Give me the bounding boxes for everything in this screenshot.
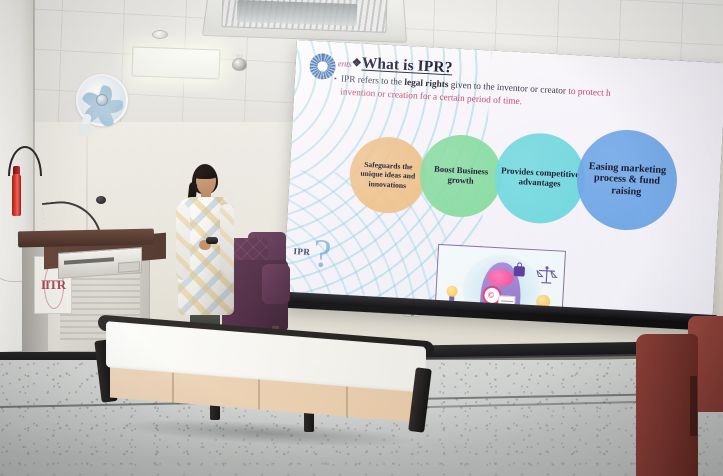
podium-control-panel[interactable] [118, 261, 140, 273]
presenter-arm-right [220, 204, 234, 276]
armchair-armrest [262, 264, 290, 304]
projection-screen-frame: ents ❖What is IPR? • IPR refers to the l… [283, 40, 723, 331]
scales-of-justice-icon [535, 265, 558, 286]
sofa-armrest [636, 334, 698, 476]
fire-extinguisher-icon [12, 174, 21, 216]
slide-title-text: What is IPR? [361, 55, 453, 77]
slide-watermark-badge: IPR [293, 246, 310, 257]
fan-hub [96, 94, 108, 106]
presenter [168, 164, 242, 340]
sofa-seam [690, 376, 697, 436]
presentation-slide: ents ❖What is IPR? • IPR refers to the l… [283, 40, 723, 321]
microphone-icon [96, 196, 106, 204]
presenter-arm-left [176, 204, 190, 280]
slide-watermark-question-mark: ? [312, 233, 332, 274]
ceiling-light-panel [132, 46, 221, 79]
institution-logo-text: ents [338, 58, 352, 69]
lightbulb-icon [446, 285, 458, 297]
benefit-circle-1: Safeguards the unique ideas and innovati… [348, 135, 428, 215]
wall-fan-icon [76, 74, 128, 126]
slide-body-seg-1: IPR refers to the [341, 74, 405, 87]
benefit-circle-3: Provides competitive advantages [493, 131, 588, 226]
benefit-circles-group: Safeguards the unique ideas and innovati… [287, 112, 722, 247]
cctv-camera-icon [232, 58, 247, 71]
smoke-detector-icon [152, 30, 168, 39]
slide-body-seg-pink: to protect h [568, 87, 611, 99]
benefit-circle-4: Easing marketing process & fund raising [574, 127, 679, 232]
sofa [636, 316, 723, 476]
lecture-hall-photo: ents ❖What is IPR? • IPR refers to the l… [0, 0, 723, 476]
copyright-icon: © [487, 290, 494, 300]
padlock-icon [514, 266, 526, 277]
podium-logo-text: IITR [41, 277, 65, 293]
bench-table [92, 326, 432, 446]
presentation-clicker-icon[interactable] [206, 237, 218, 244]
projection-screen[interactable]: ents ❖What is IPR? • IPR refers to the l… [283, 40, 723, 331]
benefit-circle-2: Boost Business growth [418, 133, 504, 219]
fan-motor [78, 124, 92, 136]
ac-vent-inner [237, 0, 358, 26]
slide-body-seg-bold: legal rights [404, 78, 449, 90]
presenter-hair-front [194, 168, 216, 179]
podium-top-edge [18, 229, 154, 248]
